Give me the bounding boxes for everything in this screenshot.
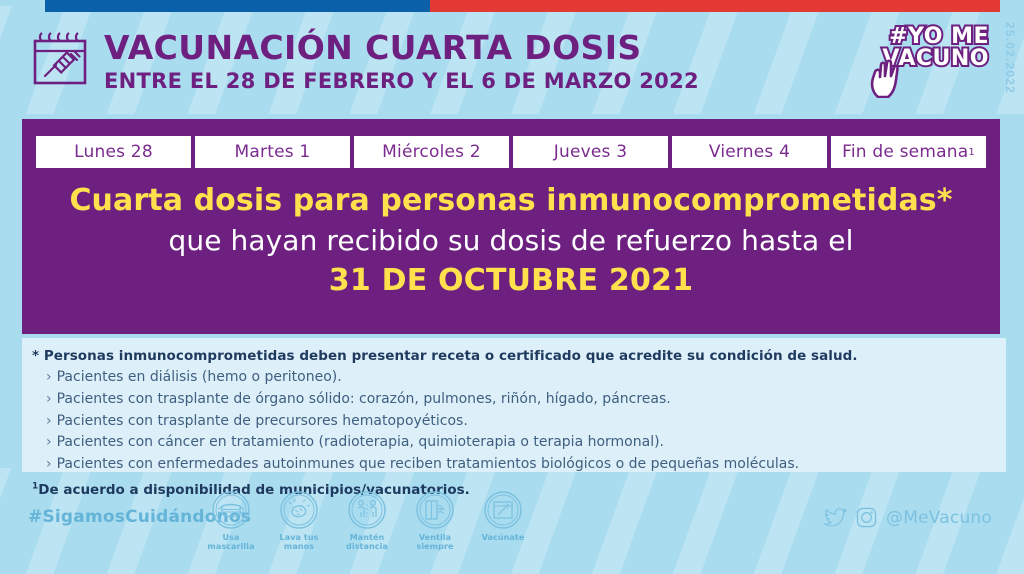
poster-canvas: 25.02.2022 VACUNACIÓN CUARTA DO: [0, 0, 1024, 574]
measure-item: Lava tus manos: [273, 490, 325, 552]
day-tab[interactable]: Fin de semana1: [831, 136, 986, 168]
social-links: @MeVacuno: [824, 507, 992, 528]
notes-box: * Personas inmunocomprometidas deben pre…: [22, 338, 1006, 472]
page-subtitle: ENTRE EL 28 DE FEBRERO Y EL 6 DE MARZO 2…: [104, 69, 699, 93]
day-tab-label: Fin de semana: [842, 142, 968, 162]
measure-label: Ventila siempre: [409, 533, 461, 552]
measure-item: Mantén distancia: [341, 490, 393, 552]
note-item: ›Pacientes con trasplante de precursores…: [32, 411, 1006, 433]
message-line-1: Cuarta dosis para personas inmunocomprom…: [22, 183, 1000, 218]
chevron-icon: ›: [46, 413, 52, 429]
note-item-text: Pacientes con trasplante de precursores …: [57, 413, 468, 429]
vaccine-calendar-icon: [483, 490, 523, 530]
ventilation-icon: [415, 490, 455, 530]
brand-logo: #YO ME VACUNO: [864, 26, 989, 98]
chevron-icon: ›: [46, 391, 52, 407]
chile-flag-bar: [45, 0, 1000, 12]
measure-label: Usa mascarilla: [205, 533, 257, 552]
note-item: ›Pacientes en diálisis (hemo o peritoneo…: [32, 367, 1006, 389]
main-message: Cuarta dosis para personas inmunocomprom…: [22, 183, 1000, 298]
note-item-text: Pacientes con cáncer en tratamiento (rad…: [57, 434, 664, 450]
chevron-icon: ›: [46, 456, 52, 472]
message-line-3: 31 DE OCTUBRE 2021: [22, 263, 1000, 298]
message-line-2: que hayan recibido su dosis de refuerzo …: [22, 224, 1000, 257]
measure-label: Mantén distancia: [341, 533, 393, 552]
day-tab-label: Jueves 3: [554, 142, 627, 162]
day-tab[interactable]: Viernes 4: [672, 136, 827, 168]
measure-item: Ventila siempre: [409, 490, 461, 552]
prevention-measures: Usa mascarilla Lava tus manos: [205, 490, 529, 552]
note-item-text: Pacientes con enfermedades autoinmunes q…: [57, 456, 800, 472]
instagram-icon[interactable]: [856, 507, 877, 528]
day-tab-label: Miércoles 2: [382, 142, 481, 162]
note-item: ›Pacientes con trasplante de órgano sóli…: [32, 389, 1006, 411]
note-item: ›Pacientes con enfermedades autoinmunes …: [32, 454, 1006, 476]
face-mask-icon: [211, 490, 251, 530]
publish-date: 25.02.2022: [1003, 22, 1017, 94]
day-tab-label: Martes 1: [235, 142, 311, 162]
day-tab[interactable]: Miércoles 2: [354, 136, 509, 168]
notes-heading: * Personas inmunocomprometidas deben pre…: [32, 346, 1006, 367]
page-title: VACUNACIÓN CUARTA DOSIS: [104, 31, 699, 65]
flag-blue-stripe: [45, 0, 430, 12]
measure-item: Usa mascarilla: [205, 490, 257, 552]
measure-label: Vacúnate: [477, 533, 529, 542]
flag-red-stripe: [430, 0, 1000, 12]
header: VACUNACIÓN CUARTA DOSIS ENTRE EL 28 DE F…: [30, 30, 699, 93]
social-distance-icon: [347, 490, 387, 530]
chevron-icon: ›: [46, 369, 52, 385]
main-panel: Lunes 28 Martes 1 Miércoles 2 Jueves 3 V…: [22, 119, 1000, 334]
day-tab-label: Viernes 4: [709, 142, 790, 162]
day-tab[interactable]: Martes 1: [195, 136, 350, 168]
calendar-syringe-icon: [30, 30, 92, 88]
measure-item: Vacúnate: [477, 490, 529, 552]
wash-hands-icon: [279, 490, 319, 530]
day-tab-sup: 1: [968, 147, 975, 158]
chevron-icon: ›: [46, 434, 52, 450]
note-item-text: Pacientes en diálisis (hemo o peritoneo)…: [57, 369, 342, 385]
brand-line-1: #YO ME: [882, 26, 989, 48]
day-tab[interactable]: Lunes 28: [36, 136, 191, 168]
note-item-text: Pacientes con trasplante de órgano sólid…: [57, 391, 671, 407]
twitter-bird-icon[interactable]: [824, 508, 847, 528]
day-tab-label: Lunes 28: [74, 142, 153, 162]
measure-label: Lava tus manos: [273, 533, 325, 552]
social-handle[interactable]: @MeVacuno: [886, 508, 992, 528]
raised-hand-peace-icon: [868, 56, 908, 98]
note-item: ›Pacientes con cáncer en tratamiento (ra…: [32, 432, 1006, 454]
day-tabs: Lunes 28 Martes 1 Miércoles 2 Jueves 3 V…: [36, 136, 986, 168]
day-tab[interactable]: Jueves 3: [513, 136, 668, 168]
